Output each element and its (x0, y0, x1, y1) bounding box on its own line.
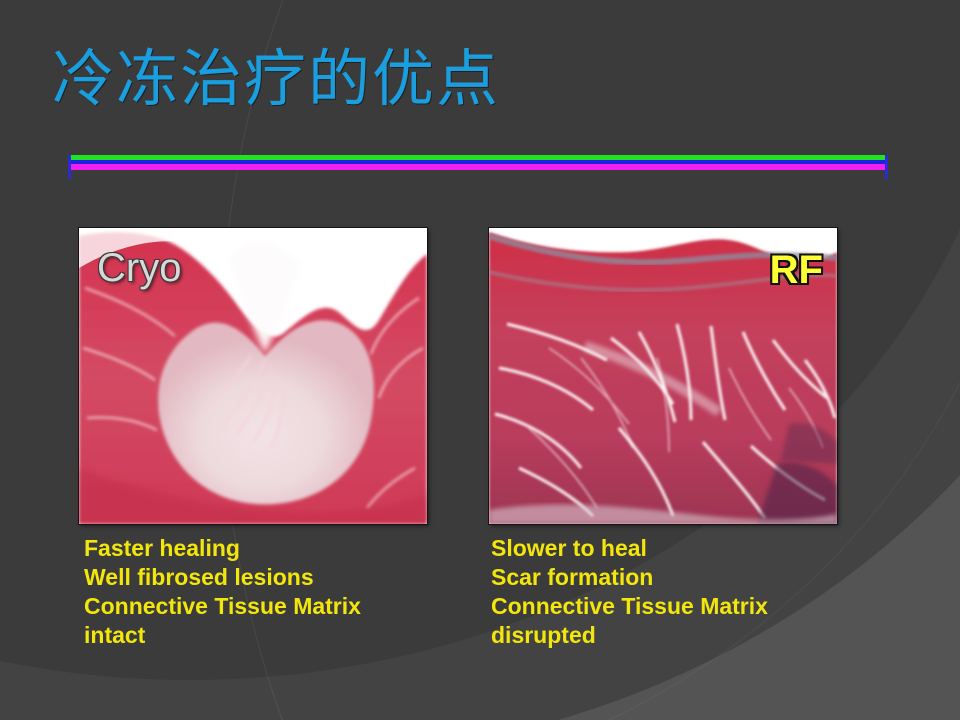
presentation-slide: 冷冻治疗的优点 (0, 0, 960, 720)
rf-image-label: RF (770, 248, 823, 293)
cryo-histology-image: Cryo (79, 228, 427, 524)
title-divider (70, 155, 885, 170)
rf-caption: Slower to heal Scar formation Connective… (491, 534, 871, 650)
divider-magenta-line (70, 164, 885, 170)
cryo-image-label: Cryo (97, 246, 181, 291)
cryo-caption: Faster healing Well fibrosed lesions Con… (84, 534, 464, 650)
divider-left-cap (68, 155, 71, 179)
slide-title: 冷冻治疗的优点 (52, 46, 500, 111)
divider-right-cap (885, 155, 888, 179)
rf-histology-image: RF (489, 228, 837, 524)
